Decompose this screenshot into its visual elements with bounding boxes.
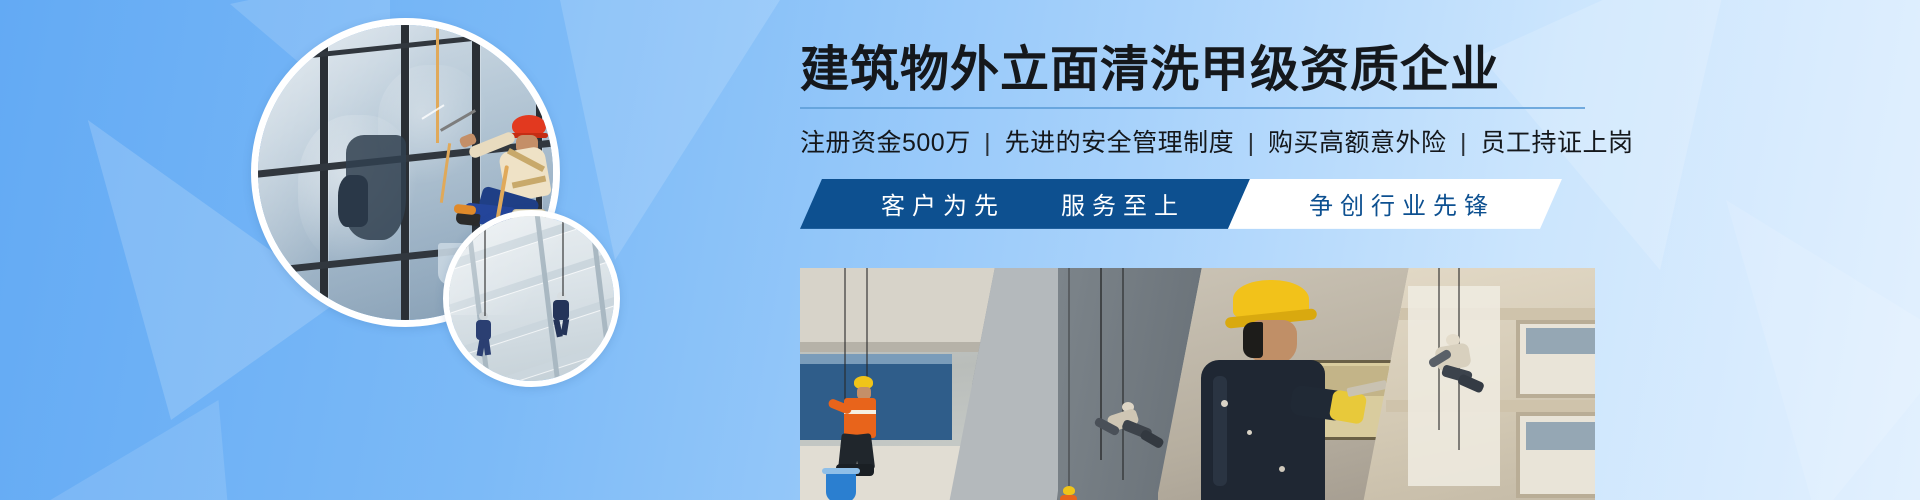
subline-separator-3: | [1454,129,1473,157]
subline-item-4: 员工持证上岗 [1480,129,1633,157]
slogan-service-supreme: 服务至上 [1061,186,1185,221]
worker-yellow-hardhat-plastering-photo [1179,268,1394,500]
headline: 建筑物外立面清洗甲级资质企业 [800,44,1600,97]
glass-roof-facade-cleaning-photo [449,216,614,381]
rope-access-worker-orange-vest-photo [800,268,980,500]
subline-item-2: 先进的安全管理制度 [1005,129,1235,157]
subline-item-1: 注册资金500万 [800,129,971,157]
slogan-ribbon: 客户为先 服务至上 争创行业先锋 [800,179,1562,229]
photo-collage [800,268,1595,500]
slogan-industry-pioneer: 争创行业先锋 [1309,186,1495,221]
subline-item-3: 购买高额意外险 [1268,129,1447,157]
slogan-ribbon-primary: 客户为先 服务至上 [800,179,1250,229]
apartment-block-exterior-cleaning-photo [1386,268,1595,500]
slogan-ribbon-secondary: 争创行业先锋 [1228,179,1562,229]
background-triangle-5 [1700,200,1920,500]
circle-photo-small [443,210,620,387]
concrete-tower-facade-worker-photo [972,268,1187,500]
slogan-customer-first: 客户为先 [881,186,1005,221]
headline-divider [800,107,1585,109]
promo-banner: 建筑物外立面清洗甲级资质企业 注册资金500万 | 先进的安全管理制度 | 购买… [0,0,1920,500]
subline: 注册资金500万 | 先进的安全管理制度 | 购买高额意外险 | 员工持证上岗 [800,123,1600,159]
subline-separator-1: | [978,129,997,157]
banner-content: 建筑物外立面清洗甲级资质企业 注册资金500万 | 先进的安全管理制度 | 购买… [800,44,1600,229]
subline-separator-2: | [1242,129,1261,157]
